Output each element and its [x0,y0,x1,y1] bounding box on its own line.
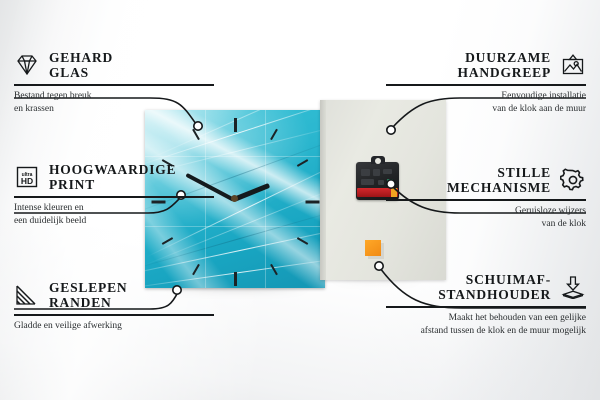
feature-divider [386,199,586,201]
feature-title-line1: HOOGWAARDIGE [49,162,176,177]
feature-divider [14,196,214,198]
infographic-canvas: GEHARD GLAS Bestand tegen breuk en krass… [0,0,600,400]
feature-divider [14,314,214,316]
svg-text:HD: HD [21,176,33,186]
feature-description: Intense kleuren en een duidelijk beeld [14,202,214,228]
gear-icon [560,168,586,192]
picture-frame-hanger-icon [560,53,586,77]
feature-divider [386,306,586,308]
feature-description: Geruisloze wijzers van de klok [386,205,586,231]
feature-geslepen-randen[interactable]: GESLEPEN RANDEN Gladde en veilige afwerk… [14,280,214,333]
feature-title-line2: RANDEN [49,295,127,310]
feature-description: Gladde en veilige afwerking [14,320,214,333]
feature-hoogwaardige-print[interactable]: ultra HD HOOGWAARDIGE PRINT Intense kleu… [14,162,214,228]
feature-title-line1: GEHARD [49,50,113,65]
feature-title-line1: DUURZAME [458,50,551,65]
feature-title: HOOGWAARDIGE PRINT [49,162,176,192]
feature-title-line1: SCHUIMAF- [438,272,551,287]
feature-title-line2: STANDHOUDER [438,287,551,302]
ultra-hd-badge-icon: ultra HD [14,165,40,189]
feature-title-line1: STILLE [447,165,551,180]
mechanism-hanger-tab [371,156,385,164]
feature-title-line2: PRINT [49,177,176,192]
feature-title-line2: MECHANISME [447,180,551,195]
beveled-edge-icon [14,283,40,307]
feature-description: Eenvoudige installatie van de klok aan d… [386,90,586,116]
feature-stille-mechanisme[interactable]: STILLE MECHANISME Geruisloze wijzers van… [386,165,586,231]
feature-divider [14,84,214,86]
feature-description: Bestand tegen breuk en krassen [14,90,214,116]
feature-title: DUURZAME HANDGREEP [458,50,551,80]
feature-title: GESLEPEN RANDEN [49,280,127,310]
feature-duurzame-handgreep[interactable]: DUURZAME HANDGREEP Eenvoudige installati… [386,50,586,116]
feature-title-line1: GESLEPEN [49,280,127,295]
diamond-icon [14,53,40,77]
feature-schuimafstandhouder[interactable]: SCHUIMAF- STANDHOUDER Maakt het behouden… [386,272,586,338]
feature-title: STILLE MECHANISME [447,165,551,195]
feature-title-line2: HANDGREEP [458,65,551,80]
foam-spacer-pad [365,240,381,256]
foam-spacer-press-icon [560,275,586,299]
feature-title: SCHUIMAF- STANDHOUDER [438,272,551,302]
back-panel-edge [320,100,326,280]
feature-gehard-glas[interactable]: GEHARD GLAS Bestand tegen breuk en krass… [14,50,214,116]
feature-description: Maakt het behouden van een gelijke afsta… [386,312,586,338]
feature-title-line2: GLAS [49,65,113,80]
clock-center-pin [231,195,238,202]
feature-divider [386,84,586,86]
feature-title: GEHARD GLAS [49,50,113,80]
